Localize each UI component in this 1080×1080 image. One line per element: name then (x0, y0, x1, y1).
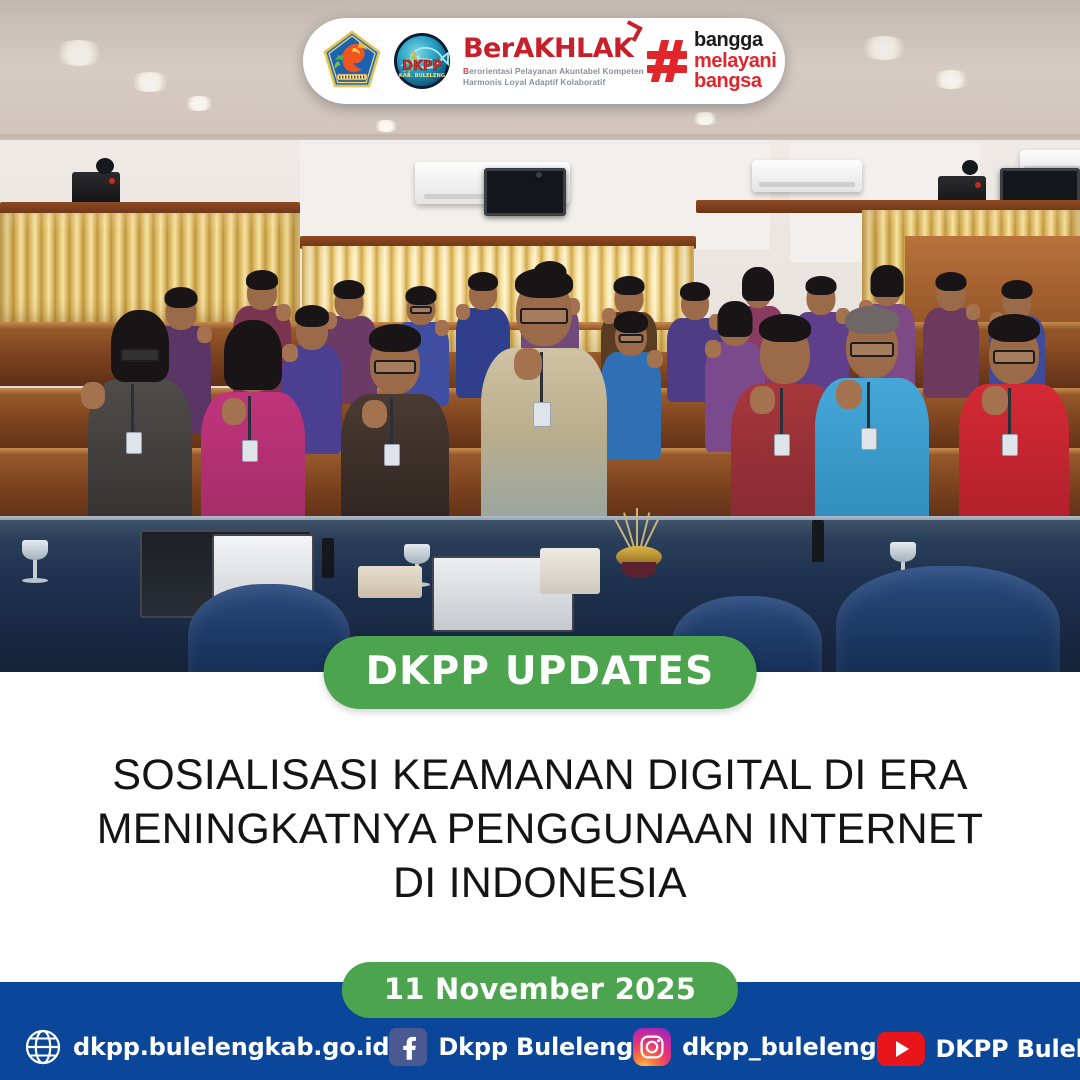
downlight-icon (858, 36, 910, 60)
goblet (404, 544, 430, 564)
person-body (601, 352, 661, 460)
footer-item-facebook[interactable]: Dkpp Buleleng (389, 1028, 633, 1066)
footer-item-youtube[interactable]: DKPP Buleleng (877, 1032, 1080, 1066)
svg-text:DKPP: DKPP (402, 59, 442, 74)
person-hair (614, 276, 645, 295)
raised-fist (836, 380, 862, 409)
lanyard (867, 382, 870, 430)
id-badge (774, 434, 790, 456)
person-hair (111, 310, 169, 382)
facebook-icon (389, 1028, 427, 1066)
lanyard (390, 398, 393, 446)
eyeglasses-icon (374, 360, 416, 374)
downlight-icon (372, 120, 400, 132)
person-hair (871, 265, 904, 297)
footer-instagram-label: dkpp_buleleng (682, 1033, 876, 1061)
footer-website-label: dkpp.bulelengkab.go.id (73, 1033, 389, 1061)
office-chair (836, 566, 1060, 672)
berakhlak-tagline-line1: Berorientasi Pelayanan Akuntabel Kompete… (463, 66, 635, 77)
id-badge (861, 428, 877, 450)
person-hair (936, 272, 967, 291)
raised-fist (647, 350, 663, 368)
downlight-icon (182, 96, 216, 111)
page-title: SOSIALISASI KEAMANAN DIGITAL DI ERA MENI… (60, 748, 1020, 911)
raised-fist (362, 400, 387, 428)
desk-microphone (322, 538, 334, 578)
svg-text:KAB. BULELENG: KAB. BULELENG (399, 73, 445, 79)
desk-microphone (812, 520, 824, 562)
person-hair (806, 276, 837, 295)
eyeglasses-icon (120, 348, 160, 362)
goblet (22, 540, 48, 560)
id-badge (1002, 434, 1018, 456)
eyeglasses-icon (850, 342, 894, 357)
headline-line-3: DI INDONESIA (60, 856, 1020, 910)
berakhlak-tagline-rest: erorientasi Pelayanan Akuntabel Kompeten (469, 66, 644, 76)
bangga-wordmark: bangga melayani bangsa (694, 30, 776, 91)
bangga-melayani-bangsa-logo: bangga melayani bangsa (647, 30, 776, 91)
camera-mount (962, 160, 978, 175)
footer-item-instagram[interactable]: dkpp_buleleng (633, 1028, 876, 1066)
goblet (33, 560, 37, 580)
lanyard (131, 384, 134, 434)
date-badge: 11 November 2025 (342, 962, 738, 1018)
poster-canvas: DKPP KAB. BULELENG BerAKHLAK Berorientas… (0, 0, 1080, 1080)
raised-fist (81, 382, 105, 409)
id-badge (242, 440, 258, 462)
person-hair (988, 314, 1040, 342)
downlight-icon (52, 40, 106, 66)
person-hair (614, 311, 648, 333)
hashtag-icon (647, 40, 687, 82)
id-badge (384, 444, 400, 466)
instagram-icon (633, 1028, 671, 1066)
wall-speaker (72, 172, 120, 206)
downlight-icon (930, 70, 972, 89)
bangga-line-1: bangga (694, 30, 776, 50)
person-hair (246, 270, 278, 290)
dkpp-logo-icon: DKPP KAB. BULELENG (393, 32, 451, 90)
bangga-line-2: melayani (694, 51, 776, 71)
person-hair (845, 306, 899, 334)
person-hair (515, 268, 573, 298)
tissue-box (540, 548, 600, 594)
goblet (22, 578, 48, 583)
eyeglasses-icon (520, 308, 568, 324)
downlight-icon (690, 112, 720, 125)
headline-line-2: MENINGKATNYA PENGGUNAAN INTERNET (60, 802, 1020, 856)
lanyard (248, 396, 251, 442)
eyeglasses-icon (619, 334, 644, 343)
updates-badge: DKPP UPDATES (324, 636, 757, 709)
person-hair (369, 324, 421, 352)
berakhlak-logo: BerAKHLAK Berorientasi Pelayanan Akuntab… (463, 35, 635, 87)
footer-facebook-label: Dkpp Buleleng (438, 1033, 633, 1061)
youtube-icon (877, 1032, 925, 1066)
person-hair (759, 314, 811, 342)
eyeglasses-icon (410, 306, 432, 314)
person-hair (1002, 280, 1033, 299)
person-hair (224, 320, 282, 390)
id-badge (533, 402, 551, 427)
eyeglasses-icon (993, 350, 1035, 364)
footer-item-website[interactable]: dkpp.bulelengkab.go.id (24, 1028, 389, 1066)
buleleng-coat-of-arms-icon (323, 30, 381, 92)
berakhlak-wordmark: BerAKHLAK (463, 35, 635, 62)
id-badge (126, 432, 142, 454)
person-hair (334, 280, 365, 299)
air-conditioner (752, 160, 862, 192)
camera-mount (96, 158, 114, 174)
downlight-icon (128, 72, 172, 92)
lanyard (1008, 388, 1011, 436)
raised-fist (705, 340, 721, 358)
bangga-line-3: bangsa (694, 71, 776, 91)
raised-fist (982, 386, 1008, 415)
headline-line-1: SOSIALISASI KEAMANAN DIGITAL DI ERA (60, 748, 1020, 802)
goblet (890, 542, 916, 562)
person-hair (165, 287, 198, 308)
logo-bar: DKPP KAB. BULELENG BerAKHLAK Berorientas… (303, 18, 785, 104)
play-triangle-icon (896, 1041, 909, 1057)
lanyard (780, 388, 783, 436)
raised-fist (750, 386, 775, 414)
person-hair (406, 286, 437, 305)
raised-fist (456, 304, 470, 320)
footer-youtube-label: DKPP Buleleng (936, 1035, 1080, 1063)
berakhlak-tagline-line2: Harmonis Loyal Adaptif Kolaboratif (463, 77, 635, 88)
wall-monitor (484, 168, 566, 216)
raised-fist (514, 348, 542, 380)
raised-fist (222, 398, 246, 425)
wall-monitor (536, 172, 542, 178)
globe-icon (24, 1028, 62, 1066)
floral-offering (604, 512, 674, 590)
tissue-box (358, 566, 422, 598)
